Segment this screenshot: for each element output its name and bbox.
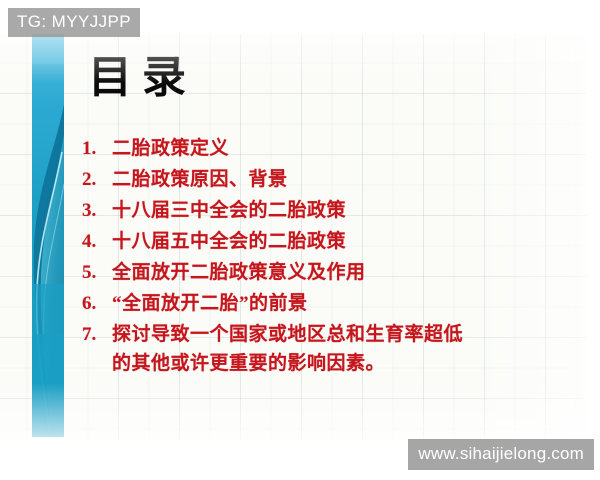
presentation-slide: 目录 1. 二胎政策定义 2. 二胎政策原因、背景 3. 十八届三中全会的二胎政…: [0, 34, 586, 440]
toc-item-text-wrap: 十八届五中全会的二胎政策: [112, 227, 346, 257]
toc-item-text-wrap: 探讨导致一个国家或地区总和生育率超低 的其他或许更重要的影响因素。: [112, 320, 463, 378]
toc-item: 3. 十八届三中全会的二胎政策: [82, 196, 552, 226]
toc-item-text-wrap: 二胎政策原因、背景: [112, 165, 288, 195]
toc-item-text-wrap: 全面放开二胎政策意义及作用: [112, 258, 366, 288]
toc-item: 5. 全面放开二胎政策意义及作用: [82, 258, 552, 288]
slide-title: 目录: [88, 56, 196, 100]
toc-item-number: 2.: [82, 165, 112, 195]
toc-item-number: 4.: [82, 227, 112, 257]
table-of-contents-list: 1. 二胎政策定义 2. 二胎政策原因、背景 3. 十八届三中全会的二胎政策 4…: [82, 134, 552, 379]
slide-screenshot: 目录 1. 二胎政策定义 2. 二胎政策原因、背景 3. 十八届三中全会的二胎政…: [0, 0, 600, 480]
toc-item-label: 全面放开二胎政策意义及作用: [112, 258, 366, 288]
site-watermark-badge: www.sihaijielong.com: [408, 439, 594, 470]
toc-item-text-wrap: 十八届三中全会的二胎政策: [112, 196, 346, 226]
toc-item-label: “全面放开二胎”的前景: [112, 289, 308, 319]
ribbon-svg: [32, 34, 64, 437]
toc-item-label: 探讨导致一个国家或地区总和生育率超低: [112, 320, 463, 349]
blue-swirl-ribbon: [32, 34, 64, 437]
toc-item: 6. “全面放开二胎”的前景: [82, 289, 552, 319]
toc-item-label: 二胎政策原因、背景: [112, 165, 288, 195]
toc-item-label: 十八届五中全会的二胎政策: [112, 227, 346, 257]
toc-item: 2. 二胎政策原因、背景: [82, 165, 552, 195]
toc-item-text-wrap: “全面放开二胎”的前景: [112, 289, 308, 319]
toc-item-label: 十八届三中全会的二胎政策: [112, 196, 346, 226]
toc-item-label: 二胎政策定义: [112, 134, 229, 164]
toc-item-label-line2: 的其他或许更重要的影响因素。: [112, 349, 463, 378]
toc-item-number: 6.: [82, 289, 112, 319]
toc-item-number: 7.: [82, 320, 112, 349]
toc-item-number: 3.: [82, 196, 112, 226]
toc-item: 1. 二胎政策定义: [82, 134, 552, 164]
toc-item-number: 1.: [82, 134, 112, 164]
toc-item: 4. 十八届五中全会的二胎政策: [82, 227, 552, 257]
telegram-watermark-badge: TG: MYYJJPP: [8, 8, 140, 37]
toc-item-text-wrap: 二胎政策定义: [112, 134, 229, 164]
toc-item: 7. 探讨导致一个国家或地区总和生育率超低 的其他或许更重要的影响因素。: [82, 320, 552, 378]
toc-item-number: 5.: [82, 258, 112, 288]
